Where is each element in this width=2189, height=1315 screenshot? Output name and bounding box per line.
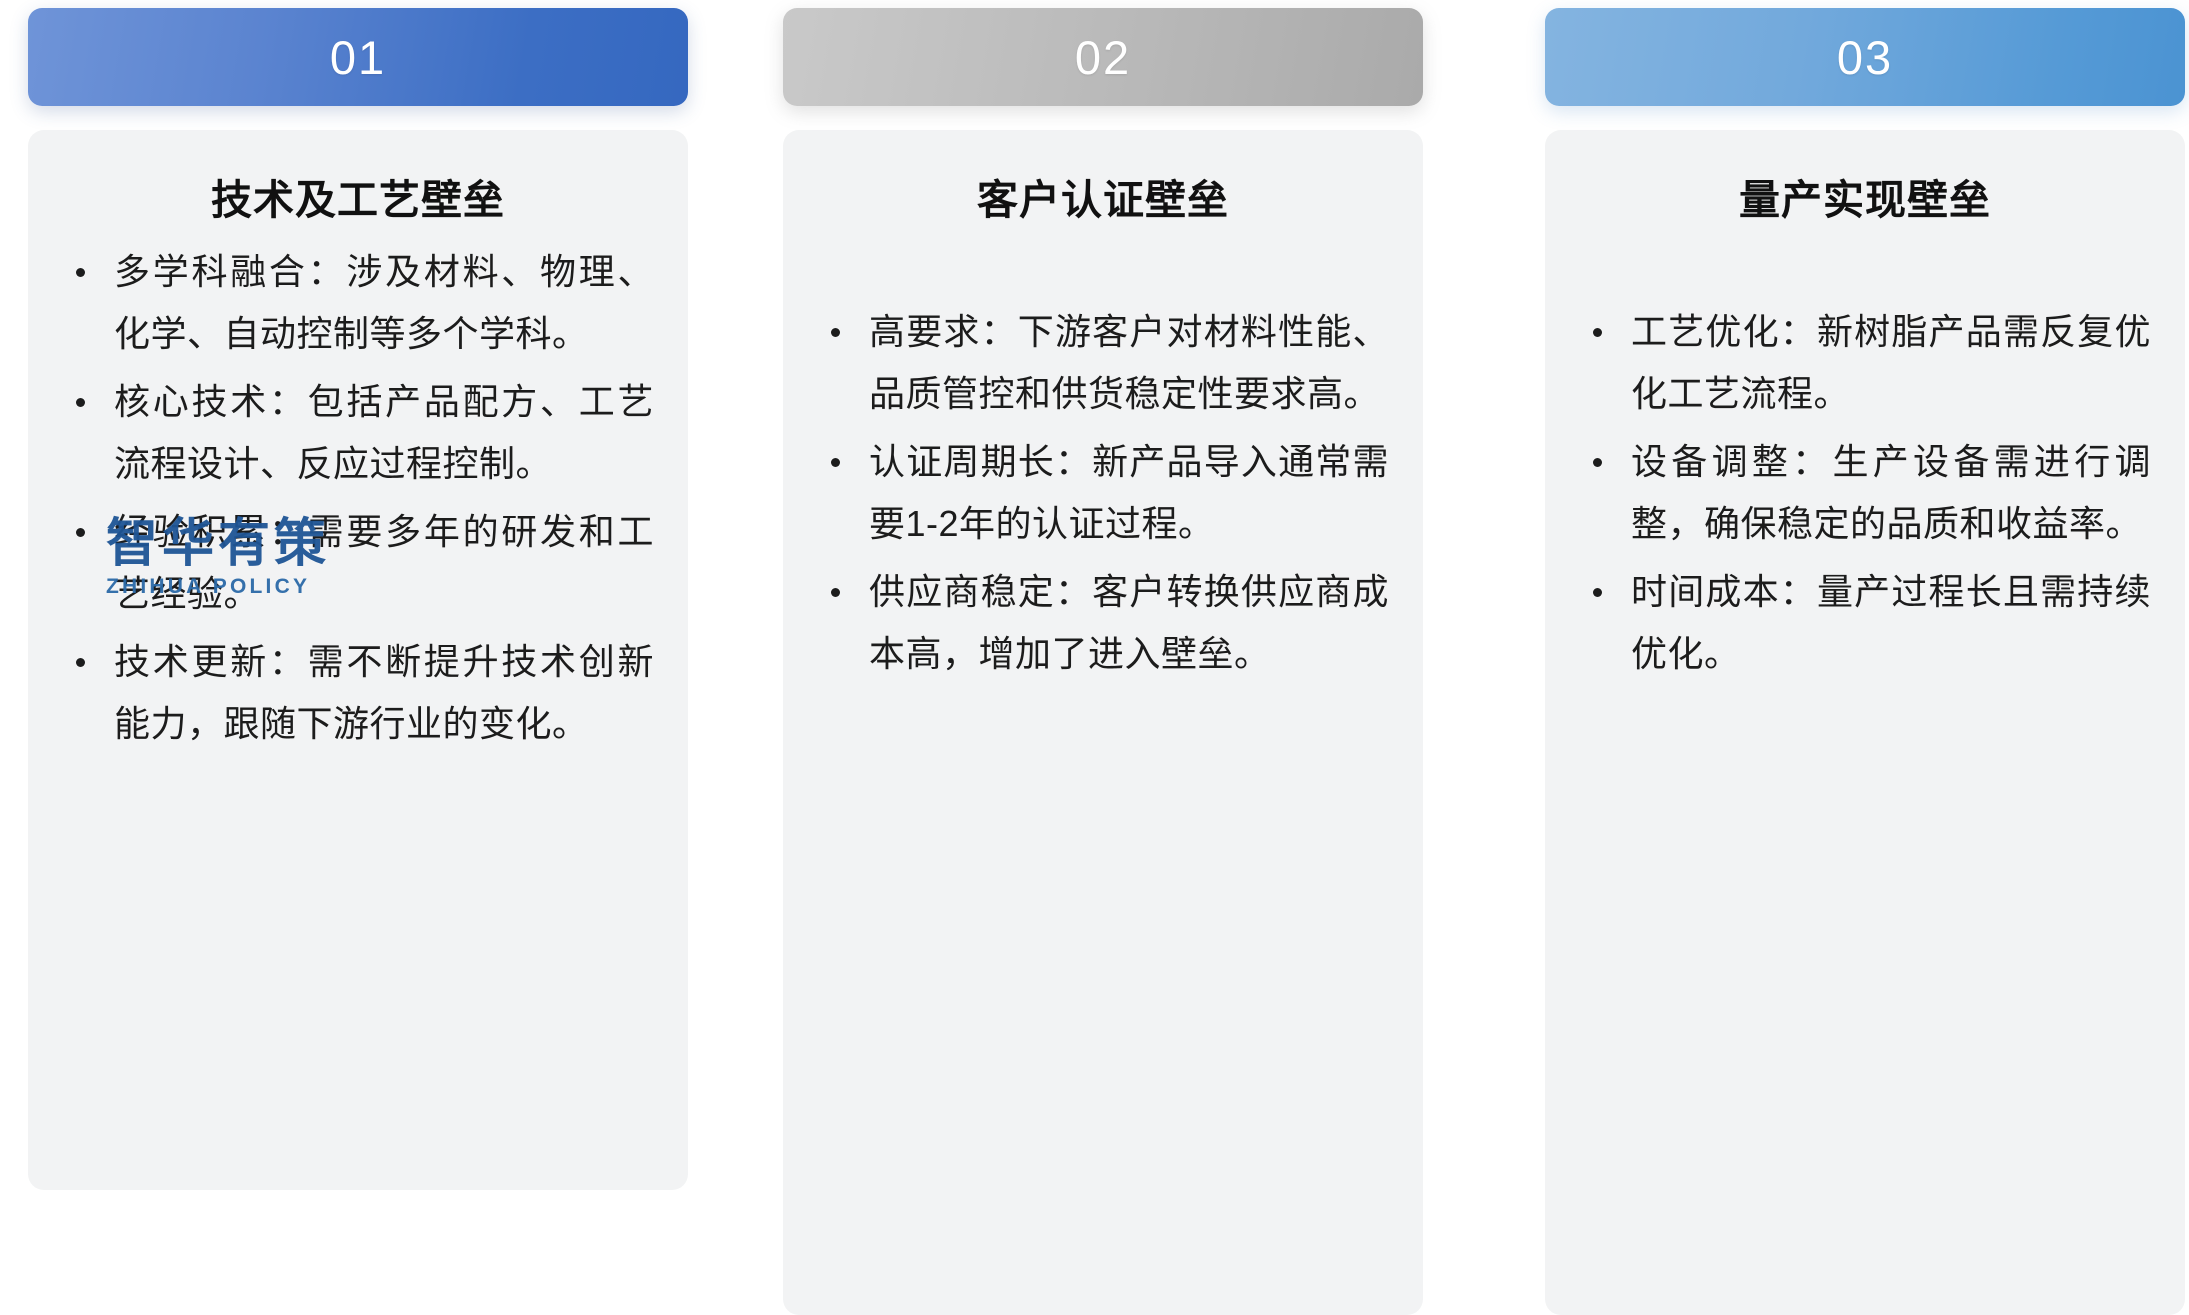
card-title-03: 量产实现壁垒 xyxy=(1579,174,2151,227)
badge-number-label: 01 xyxy=(330,34,386,81)
column-01: 01 技术及工艺壁垒 多学科融合：涉及材料、物理、化学、自动控制等多个学科。 核… xyxy=(28,8,688,1190)
list-item: 技术更新：需不断提升技术创新能力，跟随下游行业的变化。 xyxy=(62,631,654,755)
card-title-02: 客户认证壁垒 xyxy=(817,174,1389,227)
bullet-list-01: 多学科融合：涉及材料、物理、化学、自动控制等多个学科。 核心技术：包括产品配方、… xyxy=(62,241,654,754)
number-badge-03[interactable]: 03 xyxy=(1545,8,2185,106)
bullet-list-03: 工艺优化：新树脂产品需反复优化工艺流程。 设备调整：生产设备需进行调整，确保稳定… xyxy=(1579,301,2151,684)
list-item: 设备调整：生产设备需进行调整，确保稳定的品质和收益率。 xyxy=(1579,431,2151,555)
list-item: 认证周期长：新产品导入通常需要1-2年的认证过程。 xyxy=(817,431,1389,555)
number-badge-02[interactable]: 02 xyxy=(783,8,1423,106)
card-body-01: 技术及工艺壁垒 多学科融合：涉及材料、物理、化学、自动控制等多个学科。 核心技术… xyxy=(28,130,688,1190)
column-03: 03 量产实现壁垒 工艺优化：新树脂产品需反复优化工艺流程。 设备调整：生产设备… xyxy=(1545,8,2185,1315)
badge-number-label: 02 xyxy=(1075,34,1131,81)
card-body-02: 客户认证壁垒 高要求：下游客户对材料性能、品质管控和供货稳定性要求高。 认证周期… xyxy=(783,130,1423,1315)
column-02: 02 客户认证壁垒 高要求：下游客户对材料性能、品质管控和供货稳定性要求高。 认… xyxy=(783,8,1423,1315)
list-item: 多学科融合：涉及材料、物理、化学、自动控制等多个学科。 xyxy=(62,241,654,365)
bullet-list-02: 高要求：下游客户对材料性能、品质管控和供货稳定性要求高。 认证周期长：新产品导入… xyxy=(817,301,1389,684)
list-item: 核心技术：包括产品配方、工艺流程设计、反应过程控制。 xyxy=(62,371,654,495)
card-body-03: 量产实现壁垒 工艺优化：新树脂产品需反复优化工艺流程。 设备调整：生产设备需进行… xyxy=(1545,130,2185,1315)
list-item: 时间成本：量产过程长且需持续优化。 xyxy=(1579,561,2151,685)
list-item: 工艺优化：新树脂产品需反复优化工艺流程。 xyxy=(1579,301,2151,425)
number-badge-01[interactable]: 01 xyxy=(28,8,688,106)
three-column-board: 01 技术及工艺壁垒 多学科融合：涉及材料、物理、化学、自动控制等多个学科。 核… xyxy=(0,0,2189,1225)
list-item: 高要求：下游客户对材料性能、品质管控和供货稳定性要求高。 xyxy=(817,301,1389,425)
badge-number-label: 03 xyxy=(1837,34,1893,81)
card-title-01: 技术及工艺壁垒 xyxy=(62,174,654,227)
list-item: 经验积累：需要多年的研发和工艺经验。 xyxy=(62,501,654,625)
list-item: 供应商稳定：客户转换供应商成本高，增加了进入壁垒。 xyxy=(817,561,1389,685)
